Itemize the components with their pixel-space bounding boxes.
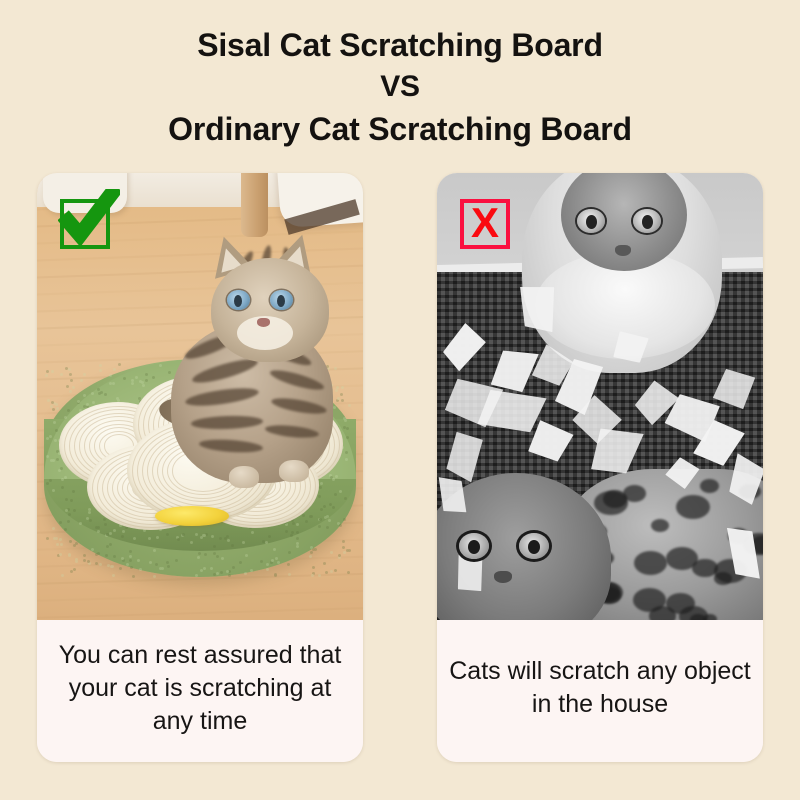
kitten-nose <box>257 318 270 327</box>
x-glyph: X <box>471 202 499 244</box>
fluffy-cat-pupil-right <box>642 215 653 229</box>
tabby-cat-pupil-right <box>528 540 540 554</box>
caption-good: You can rest assured that your cat is sc… <box>37 620 363 762</box>
kitten-pupil-right <box>277 295 285 307</box>
caption-bad: Cats will scratch any object in the hous… <box>437 620 763 762</box>
title-line-product: Sisal Cat Scratching Board <box>0 24 800 66</box>
tabby-cat-pupil-left <box>468 540 480 554</box>
fluffy-cat-pupil-left <box>586 215 597 229</box>
photo-shredded-mess: X <box>437 173 763 620</box>
page-title: Sisal Cat Scratching Board VS Ordinary C… <box>0 24 800 150</box>
leopard-spot <box>666 593 695 614</box>
fluffy-cat-nose <box>615 245 631 256</box>
red-x-icon: X <box>460 199 510 249</box>
leopard-spot <box>666 547 698 570</box>
leopard-spot <box>714 572 732 585</box>
kitten-pupil-left <box>234 295 242 307</box>
panel-good-product[interactable]: You can rest assured that your cat is sc… <box>37 173 363 762</box>
panel-ordinary-product[interactable]: X Cats will scratch any object in the ho… <box>437 173 763 762</box>
leopard-spot <box>676 495 709 519</box>
leopard-spot <box>651 519 669 532</box>
leopard-spot <box>594 491 628 516</box>
tabby-cat-nose <box>494 571 512 583</box>
leopard-spot <box>634 551 667 575</box>
kitten-illustration <box>165 228 350 528</box>
kitten-paw-front-right <box>279 460 309 482</box>
kitten-paw-front-left <box>229 466 259 488</box>
title-line-vs: VS <box>0 66 800 108</box>
photo-sisal-board <box>37 173 363 620</box>
comparison-panels: You can rest assured that your cat is sc… <box>0 173 800 763</box>
green-check-icon <box>60 199 110 249</box>
title-line-alternative: Ordinary Cat Scratching Board <box>0 108 800 150</box>
caption-bad-text: Cats will scratch any object in the hous… <box>449 655 751 721</box>
caption-good-text: You can rest assured that your cat is sc… <box>49 639 351 738</box>
